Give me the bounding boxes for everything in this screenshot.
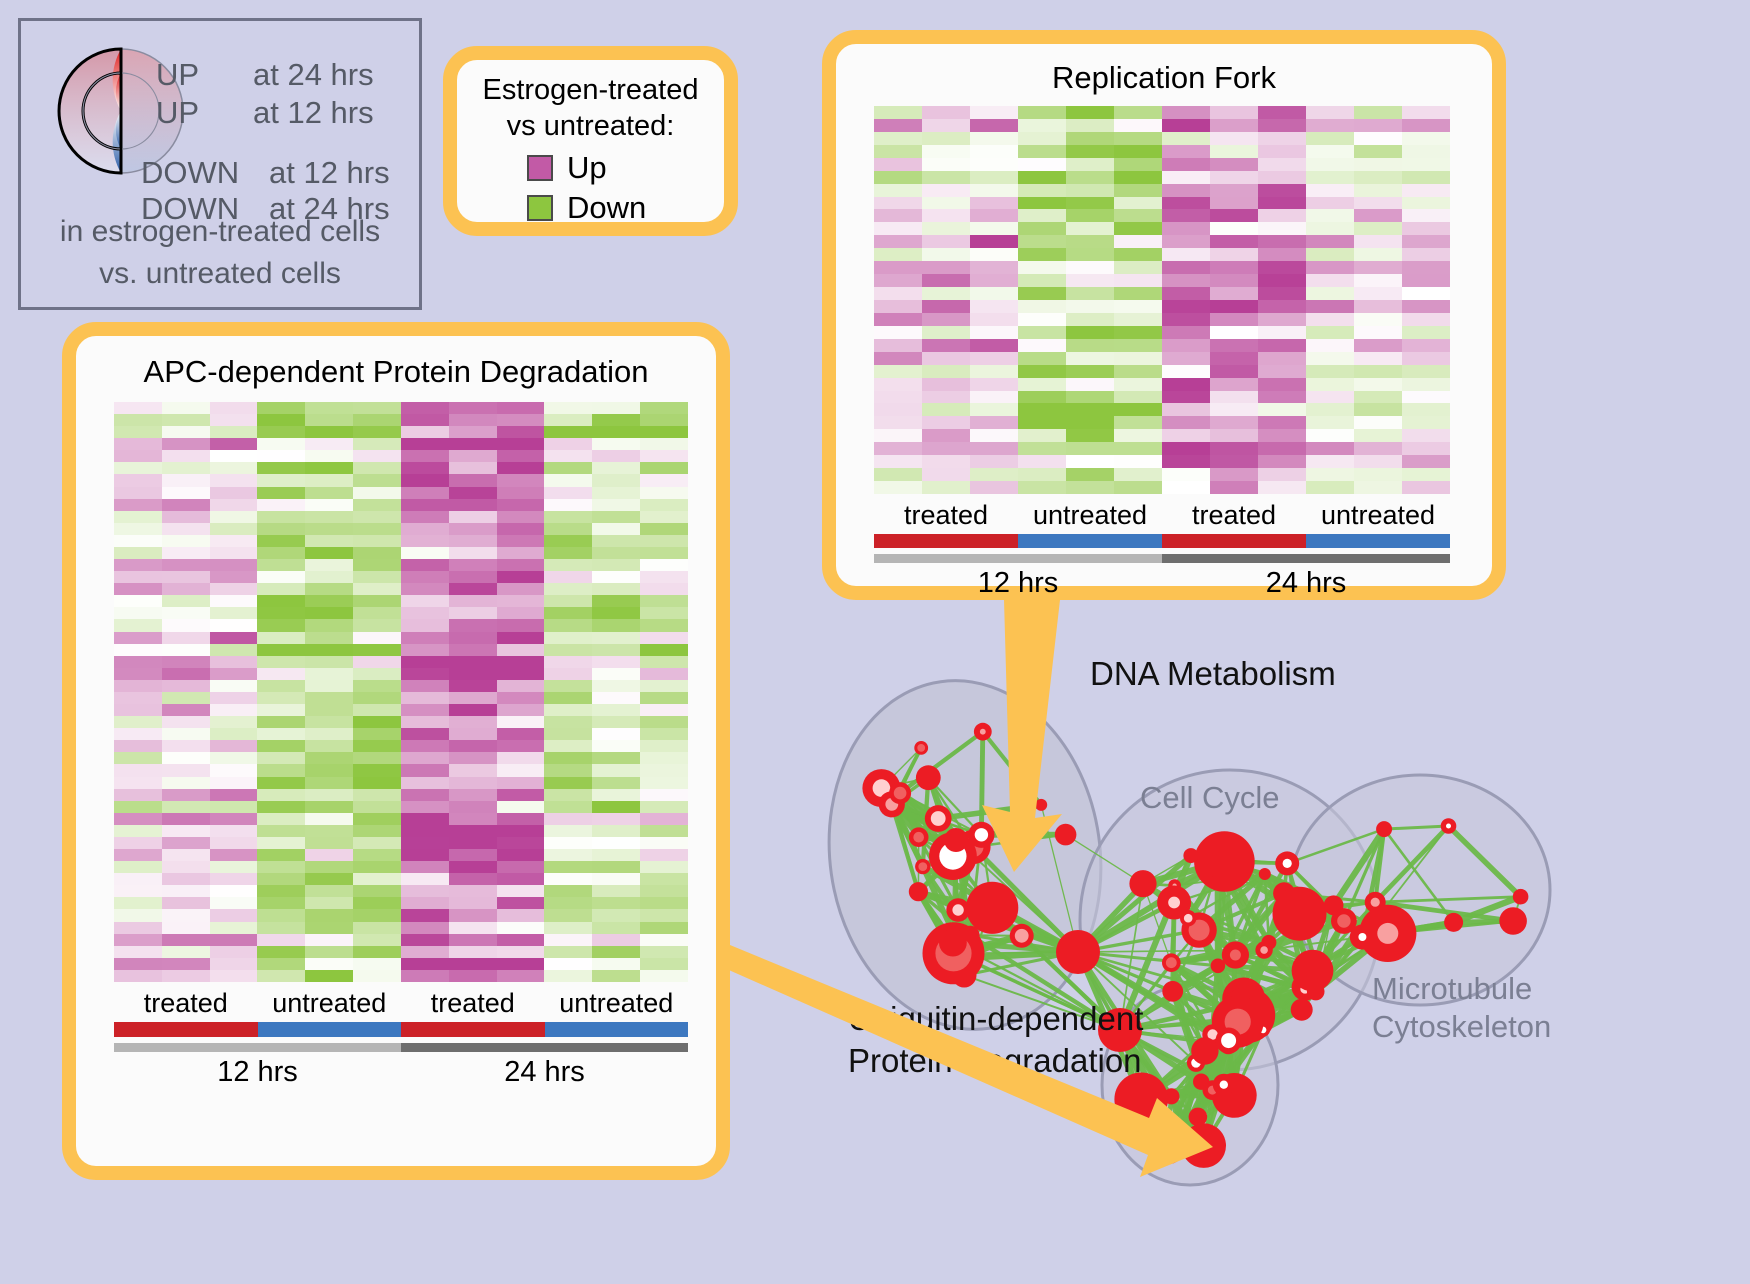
heatmap-cell xyxy=(1402,209,1450,222)
heatmap-cell xyxy=(497,668,545,680)
heatmap-cell xyxy=(592,813,640,825)
heatmap-cell xyxy=(544,801,592,813)
heatmap-cell xyxy=(210,438,258,450)
heatmap-cell xyxy=(640,692,688,704)
heatmap-cell xyxy=(210,607,258,619)
heatmap-cell xyxy=(210,849,258,861)
heatmap-cell xyxy=(592,789,640,801)
heatmap-cell xyxy=(544,885,592,897)
heatmap-cell xyxy=(210,934,258,946)
network-node[interactable] xyxy=(916,765,941,790)
heatmap-cell xyxy=(1402,248,1450,261)
heatmap-cell xyxy=(1258,106,1306,119)
heatmap-cell xyxy=(970,197,1018,210)
heatmap-cell xyxy=(497,873,545,885)
heatmap-cell xyxy=(497,680,545,692)
heatmap-cell xyxy=(162,680,210,692)
heatmap-cell xyxy=(353,849,401,861)
heatmap-cell xyxy=(544,668,592,680)
heatmap-cell xyxy=(210,692,258,704)
heatmap-cell xyxy=(1402,455,1450,468)
heatmap-cell xyxy=(114,692,162,704)
network-node[interactable] xyxy=(909,882,928,901)
legend-label-down: Down xyxy=(567,192,646,223)
heatmap-cell xyxy=(874,339,922,352)
network-node[interactable] xyxy=(1191,1037,1218,1064)
heatmap-cell xyxy=(544,402,592,414)
heatmap-cell xyxy=(305,958,353,970)
heatmap-cell xyxy=(1258,197,1306,210)
network-node[interactable] xyxy=(1183,848,1198,863)
heatmap-cell xyxy=(1258,391,1306,404)
heatmap-cell xyxy=(401,607,449,619)
heatmap-cell xyxy=(592,571,640,583)
heatmap-cell xyxy=(1258,326,1306,339)
heatmap-cell xyxy=(1354,468,1402,481)
heatmap-cell xyxy=(114,801,162,813)
heatmap-cell xyxy=(1210,313,1258,326)
heatmap-cell xyxy=(1354,261,1402,274)
heatmap-cell xyxy=(1210,352,1258,365)
heatmap-cell xyxy=(922,403,970,416)
heatmap-cell xyxy=(874,106,922,119)
heatmap-cell xyxy=(874,248,922,261)
heatmap-cell xyxy=(162,752,210,764)
heatmap-cell xyxy=(210,619,258,631)
heatmap-cell xyxy=(305,535,353,547)
heatmap-cell xyxy=(640,704,688,716)
heatmap-cell xyxy=(449,535,497,547)
heatmap-cell xyxy=(401,414,449,426)
network-edge xyxy=(981,732,982,835)
heatmap-cell xyxy=(1306,378,1354,391)
network-node[interactable] xyxy=(1189,1108,1208,1127)
heatmap-cell xyxy=(162,474,210,486)
heatmap-cell xyxy=(544,559,592,571)
heatmap-cell xyxy=(401,704,449,716)
heatmap-cell xyxy=(305,764,353,776)
heatmap-cell xyxy=(497,414,545,426)
heatmap-cell xyxy=(922,171,970,184)
heatmap-cell xyxy=(114,704,162,716)
key-footer: in estrogen-treated cells vs. untreated … xyxy=(21,211,419,295)
replication-fork-time-labels: 12 hrs24 hrs xyxy=(874,567,1450,603)
heatmap-cell xyxy=(1114,132,1162,145)
heatmap-cell xyxy=(497,922,545,934)
heatmap-cell xyxy=(1018,416,1066,429)
heatmap-cell xyxy=(1258,158,1306,171)
heatmap-cell xyxy=(497,571,545,583)
heatmap-cell xyxy=(1354,455,1402,468)
heatmap-cell xyxy=(257,619,305,631)
heatmap-cell xyxy=(640,946,688,958)
heatmap-cell xyxy=(1306,248,1354,261)
heatmap-cell xyxy=(1114,209,1162,222)
network-node[interactable] xyxy=(1273,887,1327,941)
heatmap-cell xyxy=(640,656,688,668)
heatmap-cell xyxy=(257,837,305,849)
network-node[interactable] xyxy=(966,882,1018,934)
heatmap-cell xyxy=(544,680,592,692)
heatmap-cell xyxy=(449,789,497,801)
network-node[interactable] xyxy=(1499,907,1527,935)
network-node-core xyxy=(917,744,925,752)
heatmap-cell xyxy=(353,656,401,668)
heatmap-cell xyxy=(970,313,1018,326)
heatmap-cell xyxy=(257,511,305,523)
heatmap-cell xyxy=(1114,171,1162,184)
heatmap-cell xyxy=(1354,158,1402,171)
heatmap-cell xyxy=(162,487,210,499)
heatmap-cell xyxy=(401,547,449,559)
heatmap-cell xyxy=(1306,287,1354,300)
heatmap-cell xyxy=(1306,416,1354,429)
heatmap-cell xyxy=(401,777,449,789)
heatmap-cell xyxy=(922,197,970,210)
heatmap-cell xyxy=(257,487,305,499)
heatmap-cell xyxy=(544,523,592,535)
heatmap-cell xyxy=(257,777,305,789)
heatmap-cell xyxy=(257,752,305,764)
heatmap-cell xyxy=(1066,378,1114,391)
heatmap-cell xyxy=(114,607,162,619)
heatmap-cell xyxy=(874,468,922,481)
heatmap-cell xyxy=(162,414,210,426)
heatmap-cell xyxy=(497,656,545,668)
heatmap-cell xyxy=(1114,442,1162,455)
heatmap-cell xyxy=(1258,339,1306,352)
heatmap-cell xyxy=(497,559,545,571)
network-node[interactable] xyxy=(1376,821,1392,837)
heatmap-cell xyxy=(497,740,545,752)
key-label-up-12: UP xyxy=(156,95,199,131)
heatmap-cell xyxy=(544,909,592,921)
heatmap-cell xyxy=(257,402,305,414)
heatmap-cell xyxy=(970,287,1018,300)
heatmap-cell xyxy=(640,632,688,644)
heatmap-cell xyxy=(592,547,640,559)
heatmap-cell xyxy=(544,704,592,716)
heatmap-cell xyxy=(544,511,592,523)
replication-fork-time-bars xyxy=(874,554,1450,563)
heatmap-cell xyxy=(353,450,401,462)
heatmap-cell xyxy=(1306,132,1354,145)
heatmap-cell xyxy=(1402,106,1450,119)
heatmap-cell xyxy=(210,402,258,414)
heatmap-cell xyxy=(544,571,592,583)
heatmap-cell xyxy=(922,352,970,365)
heatmap-cell xyxy=(874,261,922,274)
heatmap-cell xyxy=(640,909,688,921)
heatmap-cell xyxy=(874,442,922,455)
heatmap-cell xyxy=(1354,313,1402,326)
apc-sample-labels: treateduntreatedtreateduntreated xyxy=(114,988,688,1022)
heatmap-cell xyxy=(210,511,258,523)
legend-title: Estrogen-treated vs untreated: xyxy=(457,72,724,144)
heatmap-cell xyxy=(353,571,401,583)
heatmap-cell xyxy=(353,426,401,438)
heatmap-cell xyxy=(449,922,497,934)
heatmap-cell xyxy=(1354,209,1402,222)
heatmap-cell xyxy=(1162,313,1210,326)
heatmap-cell xyxy=(922,481,970,494)
heatmap-cell xyxy=(592,680,640,692)
heatmap-cell xyxy=(353,777,401,789)
heatmap-cell xyxy=(210,970,258,982)
network-node[interactable] xyxy=(944,828,968,852)
heatmap-cell xyxy=(970,468,1018,481)
heatmap-cell xyxy=(970,274,1018,287)
heatmap-cell xyxy=(114,619,162,631)
heatmap-cell xyxy=(1258,222,1306,235)
heatmap-cell xyxy=(1258,248,1306,261)
heatmap-cell xyxy=(1402,403,1450,416)
heatmap-cell xyxy=(114,559,162,571)
heatmap-cell xyxy=(1018,378,1066,391)
network-node[interactable] xyxy=(1291,999,1313,1021)
heatmap-cell xyxy=(1162,300,1210,313)
heatmap-cell xyxy=(1354,287,1402,300)
heatmap-cell xyxy=(1210,403,1258,416)
replication-fork-sample-labels: treateduntreatedtreateduntreated xyxy=(874,500,1450,534)
heatmap-cell xyxy=(162,426,210,438)
heatmap-cell xyxy=(1258,313,1306,326)
heatmap-cell xyxy=(162,402,210,414)
heatmap-cell xyxy=(970,106,1018,119)
heatmap-cell xyxy=(305,692,353,704)
heatmap-cell xyxy=(257,414,305,426)
heatmap-cell xyxy=(257,547,305,559)
heatmap-cell xyxy=(874,158,922,171)
heatmap-cell xyxy=(592,946,640,958)
heatmap-cell xyxy=(1306,274,1354,287)
sample-group-bar xyxy=(545,1022,689,1037)
heatmap-cell xyxy=(922,145,970,158)
heatmap-cell xyxy=(1402,222,1450,235)
heatmap-cell xyxy=(449,426,497,438)
heatmap-cell xyxy=(1354,222,1402,235)
heatmap-cell xyxy=(1210,261,1258,274)
heatmap-cell xyxy=(305,885,353,897)
heatmap-cell xyxy=(544,873,592,885)
heatmap-cell xyxy=(401,511,449,523)
heatmap-cell xyxy=(1162,184,1210,197)
heatmap-cell xyxy=(1306,481,1354,494)
heatmap-cell xyxy=(544,595,592,607)
heatmap-cell xyxy=(544,632,592,644)
heatmap-cell xyxy=(210,801,258,813)
heatmap-cell xyxy=(1210,209,1258,222)
heatmap-cell xyxy=(114,728,162,740)
heatmap-cell xyxy=(210,813,258,825)
heatmap-cell xyxy=(922,235,970,248)
heatmap-cell xyxy=(874,287,922,300)
heatmap-cell xyxy=(1258,300,1306,313)
heatmap-cell xyxy=(497,632,545,644)
heatmap-cell xyxy=(257,692,305,704)
heatmap-cell xyxy=(257,656,305,668)
heatmap-cell xyxy=(257,462,305,474)
heatmap-cell xyxy=(1114,352,1162,365)
heatmap-cell xyxy=(1114,119,1162,132)
heatmap-cell xyxy=(544,861,592,873)
heatmap-cell xyxy=(544,619,592,631)
heatmap-cell xyxy=(114,499,162,511)
heatmap-cell xyxy=(544,958,592,970)
heatmap-cell xyxy=(970,300,1018,313)
heatmap-cell xyxy=(922,248,970,261)
heatmap-cell xyxy=(401,644,449,656)
heatmap-cell xyxy=(497,716,545,728)
heatmap-cell xyxy=(592,873,640,885)
time-group-label: 12 hrs xyxy=(114,1056,401,1094)
heatmap-cell xyxy=(114,740,162,752)
heatmap-cell xyxy=(353,607,401,619)
heatmap-cell xyxy=(1354,300,1402,313)
heatmap-cell xyxy=(1258,209,1306,222)
heatmap-cell xyxy=(257,970,305,982)
heatmap-cell xyxy=(162,885,210,897)
network-node-core xyxy=(918,862,927,871)
heatmap-cell xyxy=(1066,132,1114,145)
heatmap-cell xyxy=(1210,481,1258,494)
network-node[interactable] xyxy=(1129,870,1156,897)
heatmap-cell xyxy=(1114,145,1162,158)
heatmap-cell xyxy=(922,209,970,222)
heatmap-cell xyxy=(1306,106,1354,119)
heatmap-cell xyxy=(970,222,1018,235)
heatmap-cell xyxy=(210,583,258,595)
cluster-label-microtubule-line-1: Microtubule xyxy=(1372,970,1551,1008)
heatmap-cell xyxy=(1114,378,1162,391)
key-time-up-12: at 12 hrs xyxy=(253,95,374,131)
heatmap-cell xyxy=(401,595,449,607)
heatmap-cell xyxy=(162,764,210,776)
heatmap-cell xyxy=(1162,248,1210,261)
heatmap-cell xyxy=(1210,416,1258,429)
heatmap-cell xyxy=(305,837,353,849)
heatmap-cell xyxy=(353,946,401,958)
heatmap-cell xyxy=(449,607,497,619)
heatmap-cell xyxy=(401,958,449,970)
heatmap-cell xyxy=(162,789,210,801)
network-node[interactable] xyxy=(939,929,967,957)
network-node[interactable] xyxy=(1513,889,1529,905)
heatmap-cell xyxy=(1018,145,1066,158)
network-node[interactable] xyxy=(1292,950,1334,992)
heatmap-cell xyxy=(970,119,1018,132)
heatmap-cell xyxy=(1354,235,1402,248)
heatmap-cell xyxy=(1402,391,1450,404)
network-node[interactable] xyxy=(1193,1074,1209,1090)
heatmap-cell xyxy=(1354,352,1402,365)
heatmap-cell xyxy=(1354,197,1402,210)
network-node-core xyxy=(1015,929,1029,943)
heatmap-cell xyxy=(449,861,497,873)
heatmap-cell xyxy=(305,668,353,680)
time-group-bar xyxy=(1162,554,1450,563)
heatmap-cell xyxy=(1018,261,1066,274)
network-node[interactable] xyxy=(1056,930,1100,974)
heatmap-cell xyxy=(353,511,401,523)
network-node[interactable] xyxy=(1181,1123,1226,1168)
heatmap-cell xyxy=(257,535,305,547)
heatmap-cell xyxy=(592,414,640,426)
heatmap-cell xyxy=(544,849,592,861)
heatmap-cell xyxy=(353,970,401,982)
heatmap-cell xyxy=(401,897,449,909)
heatmap-cell xyxy=(210,426,258,438)
heatmap-cell xyxy=(449,740,497,752)
heatmap-cell xyxy=(449,692,497,704)
heatmap-cell xyxy=(1402,197,1450,210)
heatmap-cell xyxy=(1066,429,1114,442)
heatmap-cell xyxy=(497,595,545,607)
heatmap-cell xyxy=(970,184,1018,197)
heatmap-cell xyxy=(401,909,449,921)
heatmap-cell xyxy=(874,481,922,494)
network-node-core xyxy=(1377,923,1398,944)
heatmap-cell xyxy=(640,728,688,740)
heatmap-cell xyxy=(114,438,162,450)
heatmap-cell xyxy=(544,922,592,934)
heatmap-cell xyxy=(1258,442,1306,455)
heatmap-cell xyxy=(210,704,258,716)
heatmap-cell xyxy=(640,861,688,873)
heatmap-cell xyxy=(1162,106,1210,119)
network-node[interactable] xyxy=(1205,852,1230,877)
heatmap-cell xyxy=(1018,132,1066,145)
heatmap-cell xyxy=(353,487,401,499)
heatmap-cell xyxy=(257,728,305,740)
heatmap-cell xyxy=(401,450,449,462)
heatmap-cell xyxy=(449,704,497,716)
time-group-bar xyxy=(114,1043,401,1052)
heatmap-cell xyxy=(497,619,545,631)
network-node[interactable] xyxy=(1444,913,1463,932)
heatmap-cell xyxy=(970,391,1018,404)
heatmap-cell xyxy=(305,450,353,462)
heatmap-cell xyxy=(1162,235,1210,248)
network-node[interactable] xyxy=(1211,959,1226,974)
network-node[interactable] xyxy=(1035,799,1047,811)
heatmap-cell xyxy=(1066,248,1114,261)
network-node[interactable] xyxy=(1259,868,1271,880)
heatmap-cell xyxy=(497,487,545,499)
heatmap-cell xyxy=(114,909,162,921)
network-node[interactable] xyxy=(1055,824,1077,846)
heatmap-cell xyxy=(1306,403,1354,416)
heatmap-cell xyxy=(401,970,449,982)
heatmap-cell xyxy=(1354,274,1402,287)
network-node[interactable] xyxy=(1162,981,1183,1002)
apc-degradation-panel: APC-dependent Protein Degradation treate… xyxy=(62,322,730,1180)
sample-group-bar xyxy=(874,534,1018,548)
heatmap-cell xyxy=(353,619,401,631)
replication-fork-title: Replication Fork xyxy=(836,60,1492,96)
heatmap-cell xyxy=(874,326,922,339)
heatmap-cell xyxy=(640,644,688,656)
heatmap-cell xyxy=(497,474,545,486)
heatmap-cell xyxy=(449,414,497,426)
heatmap-cell xyxy=(353,595,401,607)
heatmap-cell xyxy=(257,740,305,752)
heatmap-cell xyxy=(114,450,162,462)
heatmap-cell xyxy=(401,946,449,958)
heatmap-cell xyxy=(592,632,640,644)
heatmap-cell xyxy=(1210,158,1258,171)
heatmap-cell xyxy=(874,429,922,442)
